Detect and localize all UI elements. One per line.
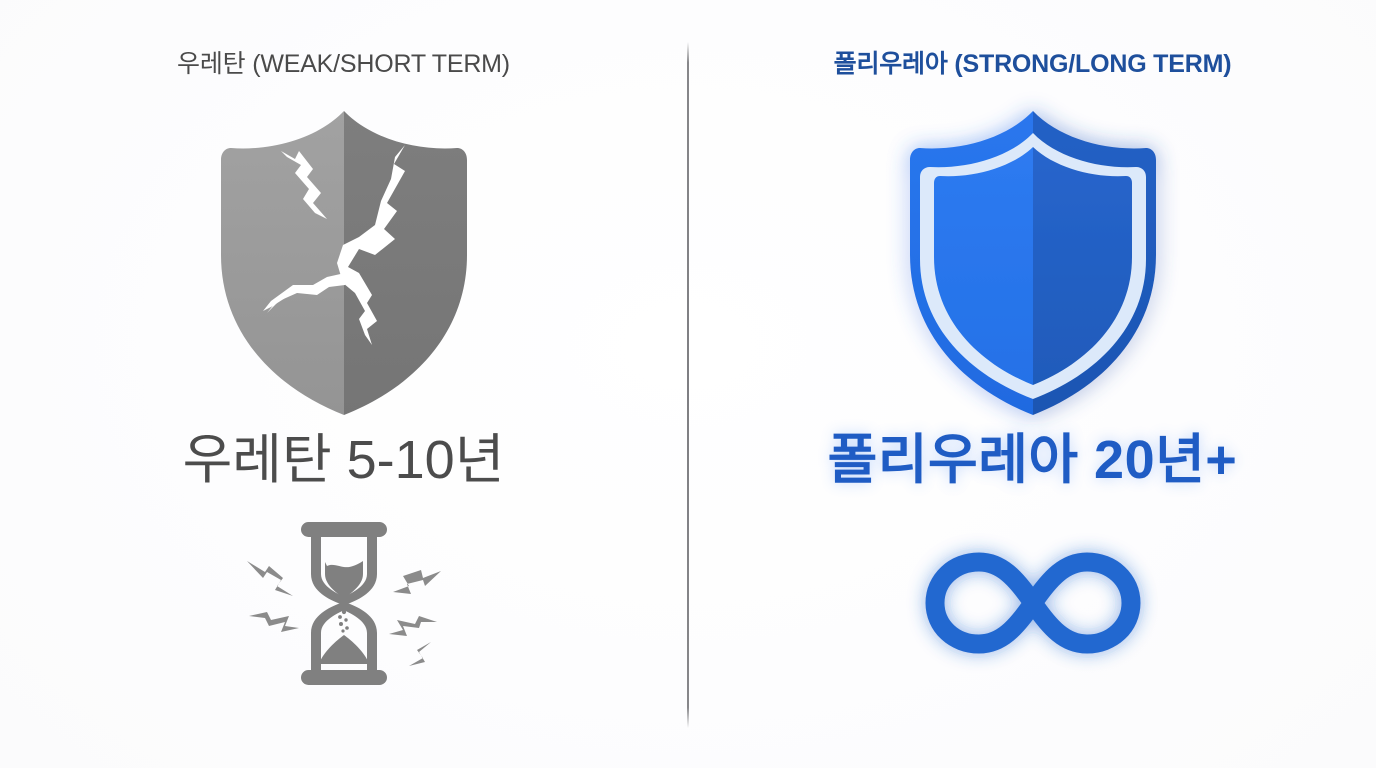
infinity-icon [913, 513, 1153, 693]
right-panel-big-label: 폴리우레아 20년+ [828, 433, 1238, 487]
cracked-shield-icon [194, 103, 494, 423]
panel-strong-long-term: 폴리우레아 (STRONG/LONG TERM) [689, 0, 1376, 768]
panel-weak-short-term: 우레탄 (WEAK/SHORT TERM) [0, 0, 687, 768]
hourglass-cracked-icon [239, 513, 449, 693]
right-panel-header: 폴리우레아 (STRONG/LONG TERM) [834, 52, 1232, 77]
intact-shield-icon [883, 103, 1183, 423]
left-panel-big-label: 우레탄 5-10년 [183, 433, 505, 487]
comparison-infographic: 우레탄 (WEAK/SHORT TERM) [0, 0, 1376, 768]
left-panel-header: 우레탄 (WEAK/SHORT TERM) [177, 52, 510, 77]
